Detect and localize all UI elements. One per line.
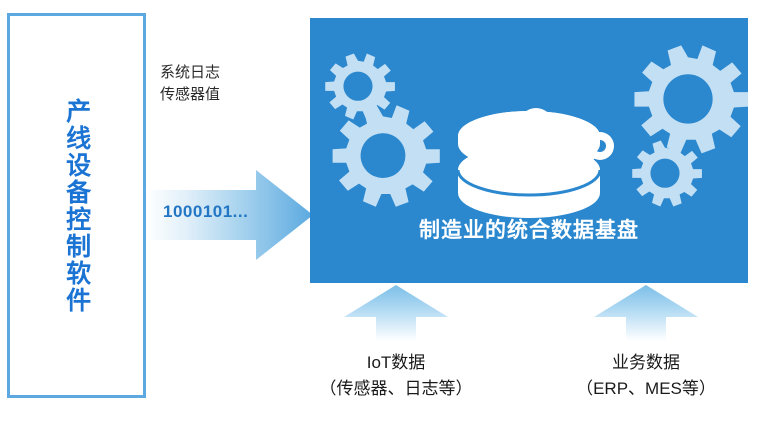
flow-caption: 系统日志 传感器值 [160, 62, 300, 106]
business-feed-title: 业务数据 [516, 350, 759, 376]
up-arrow-icon [594, 285, 698, 341]
business-feed-label: 业务数据 （ERP、MES等） [516, 350, 759, 403]
diagram-canvas: 产线设备控制软件 系统日志 传感器值 1000101... [0, 0, 759, 430]
flow-caption-line-2: 传感器值 [160, 84, 300, 106]
iot-feed-arrow [344, 285, 448, 341]
data-hub-panel: 制造业的统合数据基盘 [310, 18, 748, 283]
hub-title: 制造业的统合数据基盘 [310, 214, 748, 244]
business-feed-arrow [594, 285, 698, 341]
source-system-box: 产线设备控制软件 [7, 13, 146, 398]
iot-feed-label: IoT数据 （传感器、日志等） [266, 350, 526, 403]
flow-caption-line-1: 系统日志 [160, 62, 300, 84]
source-system-label: 产线设备控制软件 [10, 16, 143, 395]
business-feed-detail: （ERP、MES等） [516, 376, 759, 402]
binary-stream-label: 1000101... [163, 202, 248, 222]
up-arrow-icon [344, 285, 448, 341]
iot-feed-title: IoT数据 [266, 350, 526, 376]
iot-feed-detail: （传感器、日志等） [266, 376, 526, 402]
database-cylinder-icon [458, 111, 600, 218]
